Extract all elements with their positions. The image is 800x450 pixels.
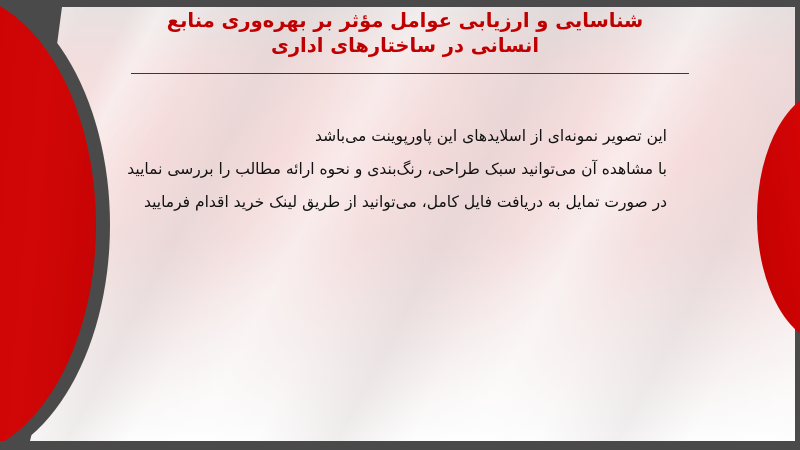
body-line-3: در صورت تمایل به دریافت فایل کامل، می‌تو…: [57, 186, 667, 219]
slide-body-text: این تصویر نمونه‌ای از اسلایدهای این پاور…: [57, 120, 667, 219]
slide-content-panel: [0, 0, 800, 450]
slide-title-line-1: شناسایی و ارزیابی عوامل مؤثر بر بهره‌وری…: [110, 8, 700, 33]
body-line-2: با مشاهده آن می‌توانید سبک طراحی، رنگ‌بن…: [57, 153, 667, 186]
slide-title: شناسایی و ارزیابی عوامل مؤثر بر بهره‌وری…: [110, 8, 700, 58]
presentation-slide: شناسایی و ارزیابی عوامل مؤثر بر بهره‌وری…: [0, 0, 800, 450]
slide-title-line-2: انسانی در ساختارهای اداری: [110, 33, 700, 58]
slide-bottom-frame: [0, 441, 800, 450]
body-line-1: این تصویر نمونه‌ای از اسلایدهای این پاور…: [57, 120, 667, 153]
title-underline: [131, 73, 689, 74]
